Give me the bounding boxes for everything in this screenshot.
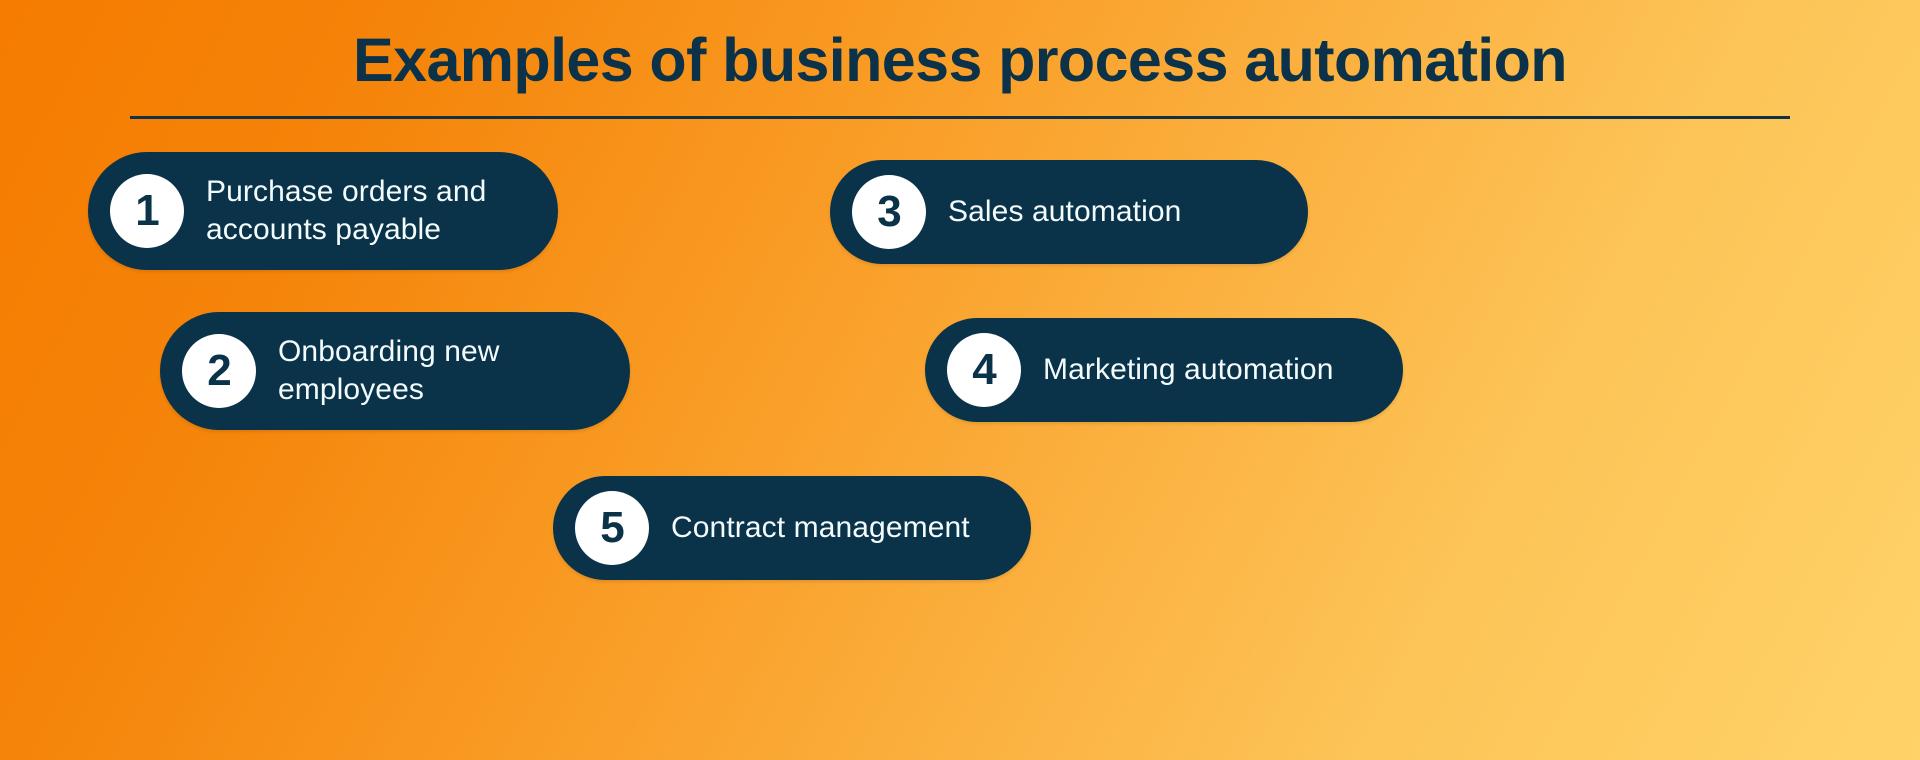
- step-number-badge: 4: [947, 333, 1021, 407]
- process-item-label: Contract management: [671, 509, 997, 547]
- infographic-canvas: Examples of business process automation …: [0, 0, 1920, 760]
- step-number-badge: 5: [575, 491, 649, 565]
- step-number-badge: 1: [110, 174, 184, 248]
- step-number-badge: 2: [182, 334, 256, 408]
- header: Examples of business process automation: [0, 0, 1920, 94]
- process-item-label: Sales automation: [948, 193, 1274, 231]
- title-divider: [130, 116, 1790, 119]
- process-item-label: Marketing automation: [1043, 351, 1369, 389]
- process-item-label: Onboarding new employees: [278, 333, 596, 410]
- process-item-1[interactable]: 1 Purchase orders and accounts payable: [88, 152, 558, 270]
- process-item-2[interactable]: 2 Onboarding new employees: [160, 312, 630, 430]
- page-title: Examples of business process automation: [0, 0, 1920, 94]
- process-item-5[interactable]: 5 Contract management: [553, 476, 1031, 580]
- step-number-badge: 3: [852, 175, 926, 249]
- process-item-4[interactable]: 4 Marketing automation: [925, 318, 1403, 422]
- process-item-3[interactable]: 3 Sales automation: [830, 160, 1308, 264]
- process-item-label: Purchase orders and accounts payable: [206, 173, 524, 250]
